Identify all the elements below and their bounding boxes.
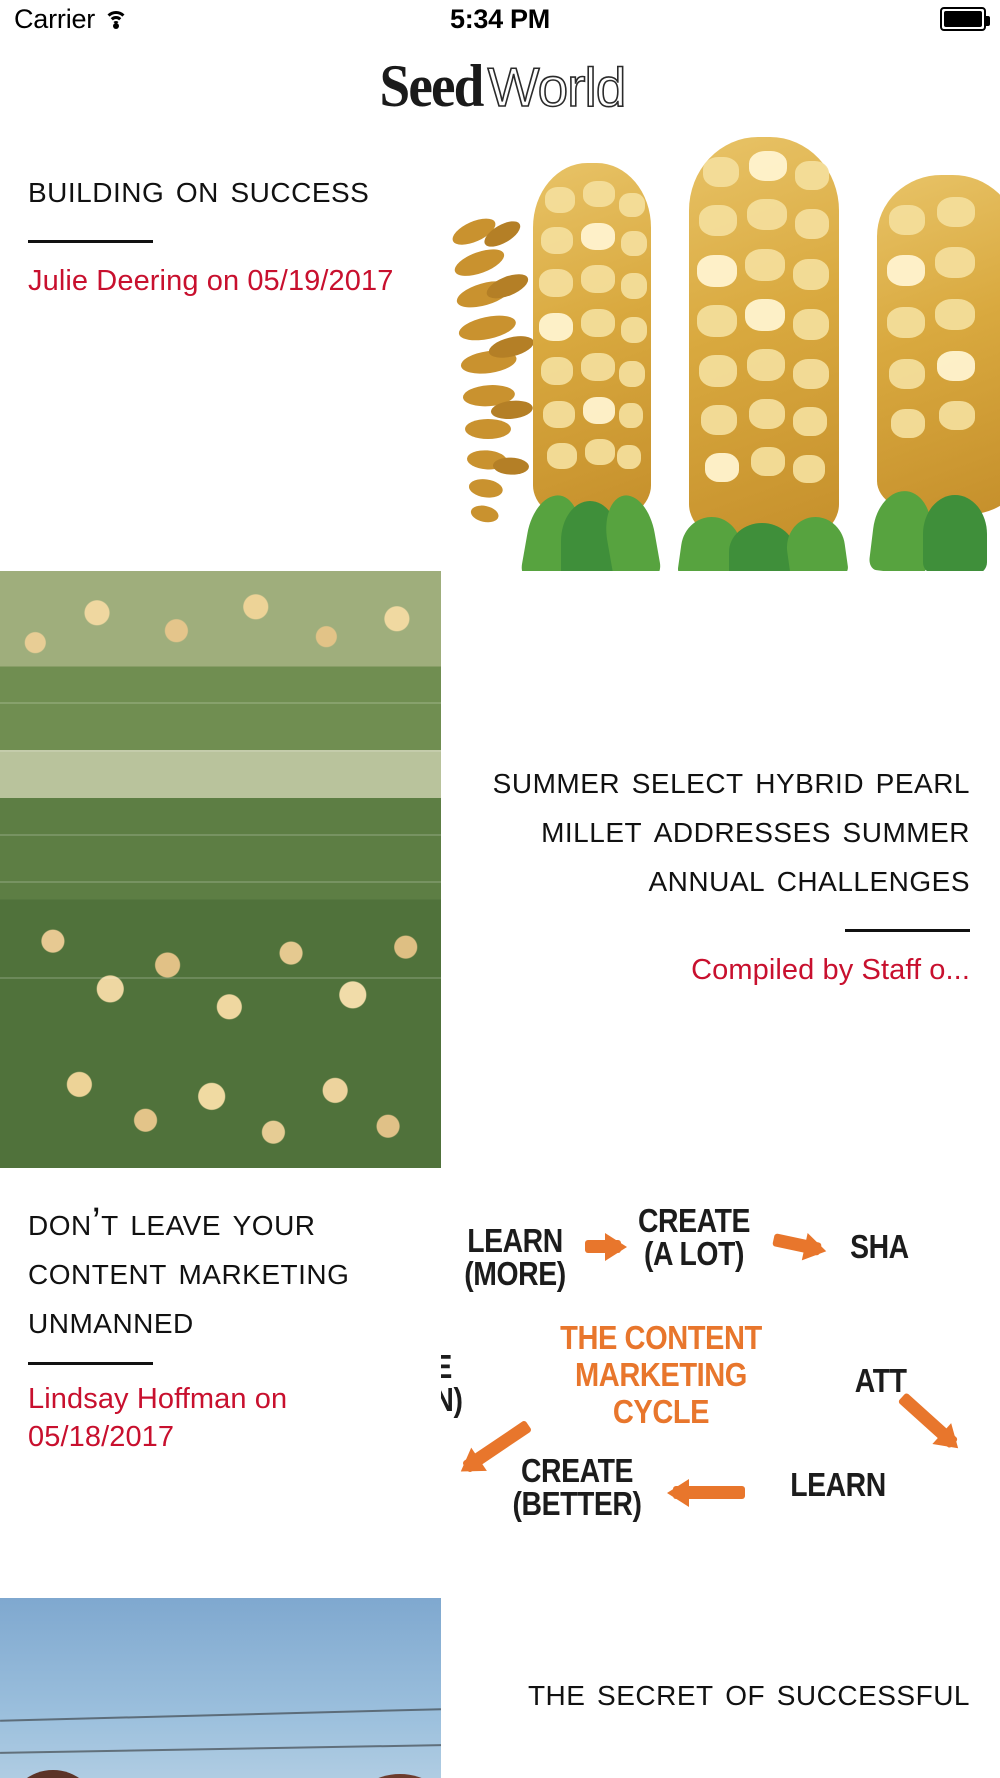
cmc-center-line2: MARKETING (575, 1356, 747, 1393)
article-grid: Building on Success Julie Deering on 05/… (0, 135, 1000, 1778)
title-divider (845, 929, 970, 932)
article-title-3: Don’t Leave Your Content Marketing Unman… (28, 1198, 413, 1344)
article-byline-2: Compiled by Staff o... (691, 952, 970, 989)
cmc-node-share: SHA (850, 1230, 962, 1263)
cmc-create-alot-line2: (A LOT) (644, 1235, 744, 1272)
cmc-node-learn: LEARN (774, 1468, 903, 1501)
cmc-center-line1: THE CONTENT (560, 1319, 762, 1356)
article-title-4: The Secret of Successful (528, 1668, 970, 1717)
cmc-learn-more-line2: (MORE) (464, 1255, 565, 1292)
cmc-arrow-1 (585, 1240, 621, 1253)
article-row-1: Building on Success Julie Deering on 05/… (0, 135, 1000, 571)
article-image-2[interactable] (0, 571, 441, 1168)
cmc-left-line2: N) (441, 1381, 462, 1418)
title-divider (28, 240, 153, 243)
logo-world-text: World (488, 55, 626, 119)
status-bar: Carrier 5:34 PM (0, 0, 1000, 38)
logo-seed-text: Seed (379, 52, 482, 121)
app-header: Seed World (0, 38, 1000, 135)
article-image-1[interactable] (441, 135, 1000, 571)
article-card-4[interactable]: The Secret of Successful (441, 1598, 1000, 1778)
cmc-center-title: THE CONTENT MARKETING CYCLE (520, 1320, 802, 1431)
cmc-learn-more-line1: LEARN (467, 1222, 563, 1259)
article-row-3: Don’t Leave Your Content Marketing Unman… (0, 1168, 1000, 1598)
cmc-node-create-alot: CREATE (A LOT) (621, 1204, 767, 1270)
article-image-3[interactable]: LEARN (MORE) CREATE (A LOT) SHA E N) (441, 1168, 1000, 1598)
article-row-4: The Secret of Successful (0, 1598, 1000, 1778)
cmc-node-learn-more: LEARN (MORE) (446, 1224, 584, 1290)
cmc-left-line1: E (441, 1348, 452, 1385)
cmc-create-alot-line1: CREATE (638, 1202, 750, 1239)
cmc-node-attract: ATT (855, 1364, 975, 1397)
aphids-on-leaf-photo (0, 571, 441, 1168)
status-bar-right (940, 7, 986, 31)
article-byline-1: Julie Deering on 05/19/2017 (28, 263, 413, 300)
cmc-share-text: SHA (850, 1228, 909, 1265)
article-image-4[interactable] (0, 1598, 441, 1778)
cmc-learn-text: LEARN (790, 1466, 886, 1503)
article-title-1: Building on Success (28, 165, 413, 214)
cmc-arrow-2 (772, 1233, 822, 1256)
content-marketing-cycle-infographic: LEARN (MORE) CREATE (A LOT) SHA E N) (441, 1168, 1000, 1598)
battery-icon (940, 7, 986, 31)
cmc-create-better-line1: CREATE (521, 1452, 633, 1489)
cmc-create-better-line2: (BETTER) (513, 1485, 642, 1522)
cmc-center-line3: CYCLE (613, 1393, 709, 1430)
article-card-3[interactable]: Don’t Leave Your Content Marketing Unman… (0, 1168, 441, 1598)
cmc-attract-text: ATT (855, 1362, 907, 1399)
article-byline-3: Lindsay Hoffman on 05/18/2017 (28, 1381, 413, 1455)
cmc-arrow-3 (673, 1486, 745, 1499)
article-card-1[interactable]: Building on Success Julie Deering on 05/… (0, 135, 441, 571)
article-title-2: Summer Select Hybrid Pearl Millet Addres… (469, 756, 970, 902)
title-divider (28, 1362, 153, 1365)
sky-photo (0, 1598, 441, 1778)
corn-cobs-illustration (441, 135, 1000, 571)
cmc-arrow-5 (898, 1392, 959, 1449)
article-card-2[interactable]: Summer Select Hybrid Pearl Millet Addres… (441, 571, 1000, 1168)
cmc-node-create-better: CREATE (BETTER) (500, 1454, 655, 1520)
article-row-2: Summer Select Hybrid Pearl Millet Addres… (0, 571, 1000, 1168)
seed-world-logo[interactable]: Seed World (375, 52, 626, 121)
status-bar-clock: 5:34 PM (0, 4, 1000, 35)
